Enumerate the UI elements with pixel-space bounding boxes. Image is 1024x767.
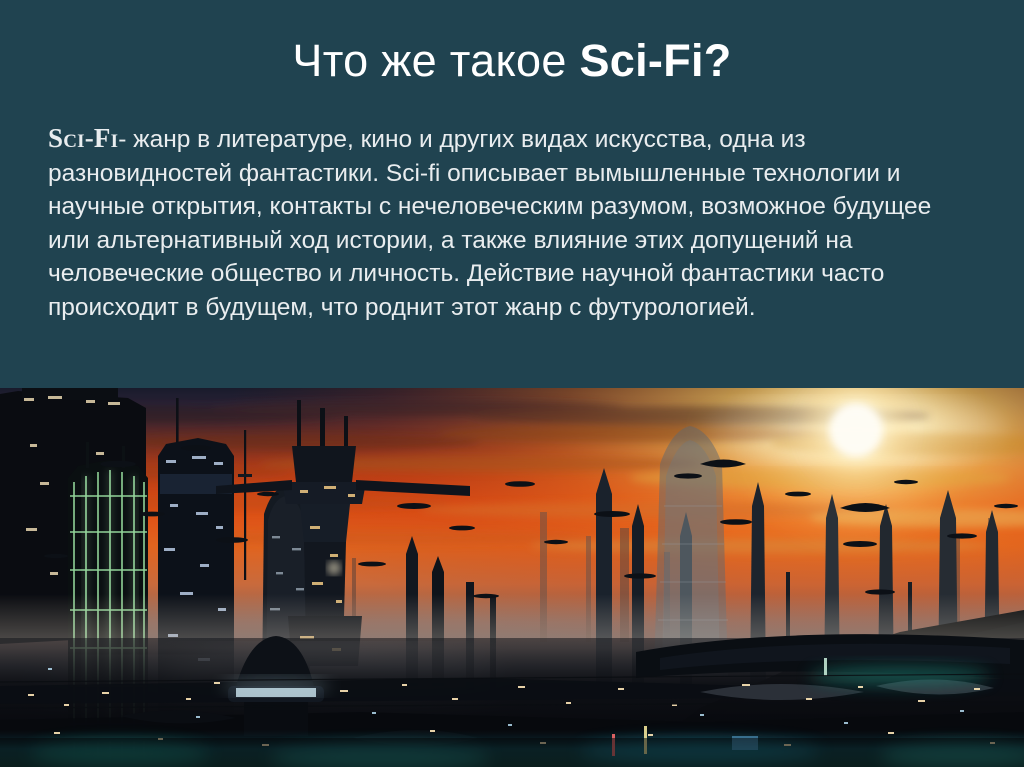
page-title-plain: Что же такое [292, 35, 579, 86]
body-paragraph-text: - жанр в литературе, кино и других видах… [48, 126, 931, 321]
presentation-slide: Что же такое Sci-Fi? Sci-Fi- жанр в лите… [0, 0, 1024, 767]
bottom-vignette [0, 738, 1024, 767]
body-lead-term: Sci-Fi [48, 123, 118, 153]
page-title-emphasis: Sci-Fi? [579, 35, 731, 86]
body-paragraph: Sci-Fi- жанр в литературе, кино и других… [48, 122, 948, 324]
page-title: Что же такое Sci-Fi? [0, 34, 1024, 88]
futuristic-city-image [0, 386, 1024, 767]
text-panel: Что же такое Sci-Fi? Sci-Fi- жанр в лите… [0, 0, 1024, 388]
futuristic-city-artwork [0, 386, 1024, 767]
